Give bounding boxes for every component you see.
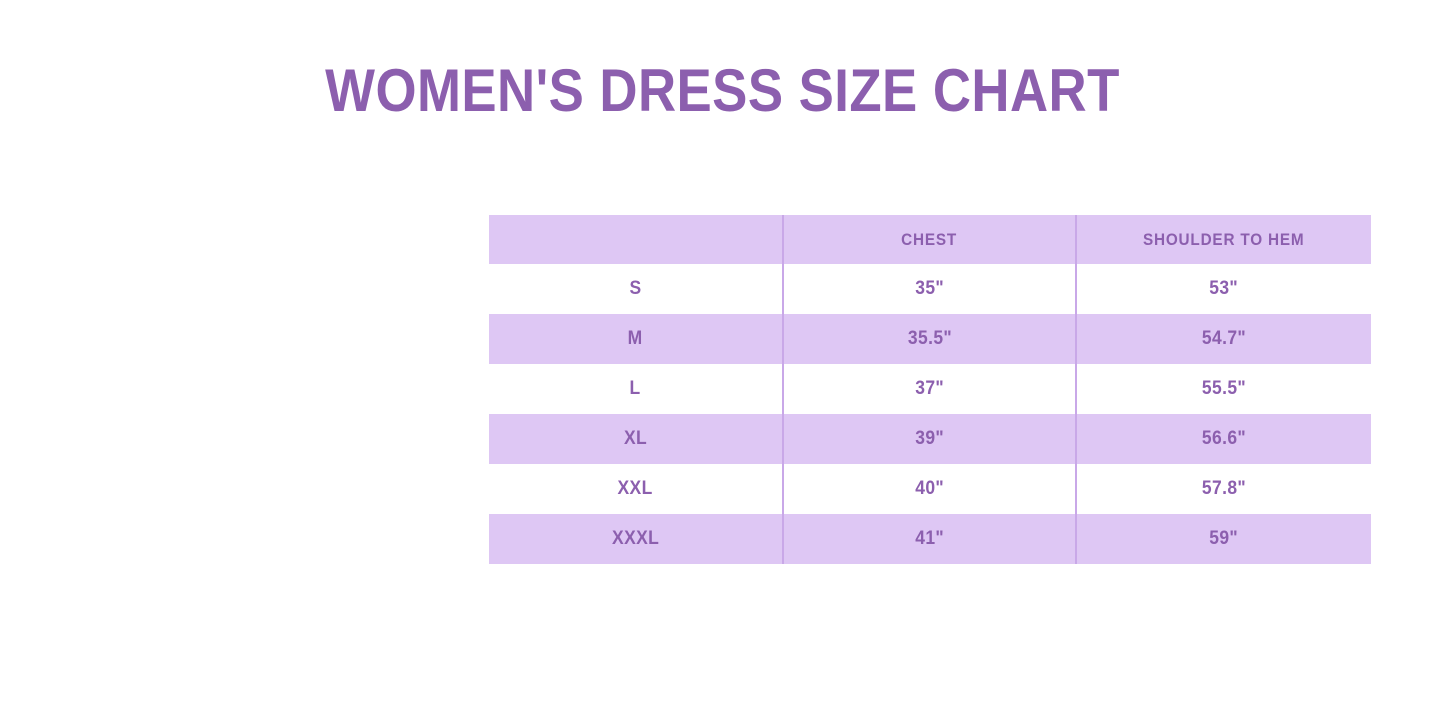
size-chart-table: CHEST SHOULDER TO HEM S 35" 53" (489, 215, 1371, 564)
cell-shoulder-to-hem-value: 59" (1210, 528, 1239, 550)
column-header-shoulder-to-hem: SHOULDER TO HEM (1076, 215, 1371, 264)
cell-chest-value: 37" (915, 378, 944, 400)
cell-shoulder-to-hem: 54.7" (1076, 314, 1371, 364)
cell-chest-value: 35.5" (907, 328, 951, 350)
cell-chest: 40" (783, 464, 1076, 514)
table-row: XXL 40" 57.8" (489, 464, 1371, 514)
cell-size-value: XXL (618, 478, 653, 500)
cell-chest-value: 40" (915, 478, 944, 500)
column-header-shoulder-to-hem-label: SHOULDER TO HEM (1143, 230, 1304, 250)
size-chart-container: CHEST SHOULDER TO HEM S 35" 53" (489, 215, 1371, 566)
cell-shoulder-to-hem: 57.8" (1076, 464, 1371, 514)
cell-size: L (489, 364, 783, 414)
column-header-chest-label: CHEST (902, 230, 958, 250)
cell-size-value: L (630, 378, 641, 400)
cell-chest-value: 39" (915, 428, 944, 450)
cell-size-value: S (629, 278, 641, 300)
column-header-chest: CHEST (783, 215, 1076, 264)
column-header-size (489, 215, 783, 264)
page-canvas: WOMEN'S DRESS SIZE CHART CHEST SHOULDER … (0, 0, 1445, 723)
table-row: S 35" 53" (489, 264, 1371, 314)
cell-shoulder-to-hem: 55.5" (1076, 364, 1371, 414)
page-title: WOMEN'S DRESS SIZE CHART (87, 55, 1359, 127)
table-row: XL 39" 56.6" (489, 414, 1371, 464)
cell-size-value: XL (624, 428, 647, 450)
cell-shoulder-to-hem-value: 57.8" (1202, 478, 1246, 500)
cell-shoulder-to-hem-value: 55.5" (1202, 378, 1246, 400)
table-row: L 37" 55.5" (489, 364, 1371, 414)
cell-shoulder-to-hem-value: 53" (1210, 278, 1239, 300)
cell-size-value: M (628, 328, 643, 350)
cell-chest-value: 41" (915, 528, 944, 550)
cell-size: S (489, 264, 783, 314)
table-row: M 35.5" 54.7" (489, 314, 1371, 364)
cell-shoulder-to-hem-value: 54.7" (1202, 328, 1246, 350)
table-header: CHEST SHOULDER TO HEM (489, 215, 1371, 264)
table-header-row: CHEST SHOULDER TO HEM (489, 215, 1371, 264)
cell-shoulder-to-hem: 53" (1076, 264, 1371, 314)
cell-shoulder-to-hem-value: 56.6" (1202, 428, 1246, 450)
table-row: XXXL 41" 59" (489, 514, 1371, 564)
cell-size: M (489, 314, 783, 364)
table-body: S 35" 53" M 35.5" (489, 264, 1371, 564)
cell-chest: 35" (783, 264, 1076, 314)
cell-chest: 39" (783, 414, 1076, 464)
cell-size: XL (489, 414, 783, 464)
cell-chest: 37" (783, 364, 1076, 414)
cell-shoulder-to-hem: 56.6" (1076, 414, 1371, 464)
cell-shoulder-to-hem: 59" (1076, 514, 1371, 564)
cell-size-value: XXXL (612, 528, 659, 550)
cell-chest: 35.5" (783, 314, 1076, 364)
cell-size: XXXL (489, 514, 783, 564)
cell-size: XXL (489, 464, 783, 514)
cell-chest-value: 35" (915, 278, 944, 300)
cell-chest: 41" (783, 514, 1076, 564)
